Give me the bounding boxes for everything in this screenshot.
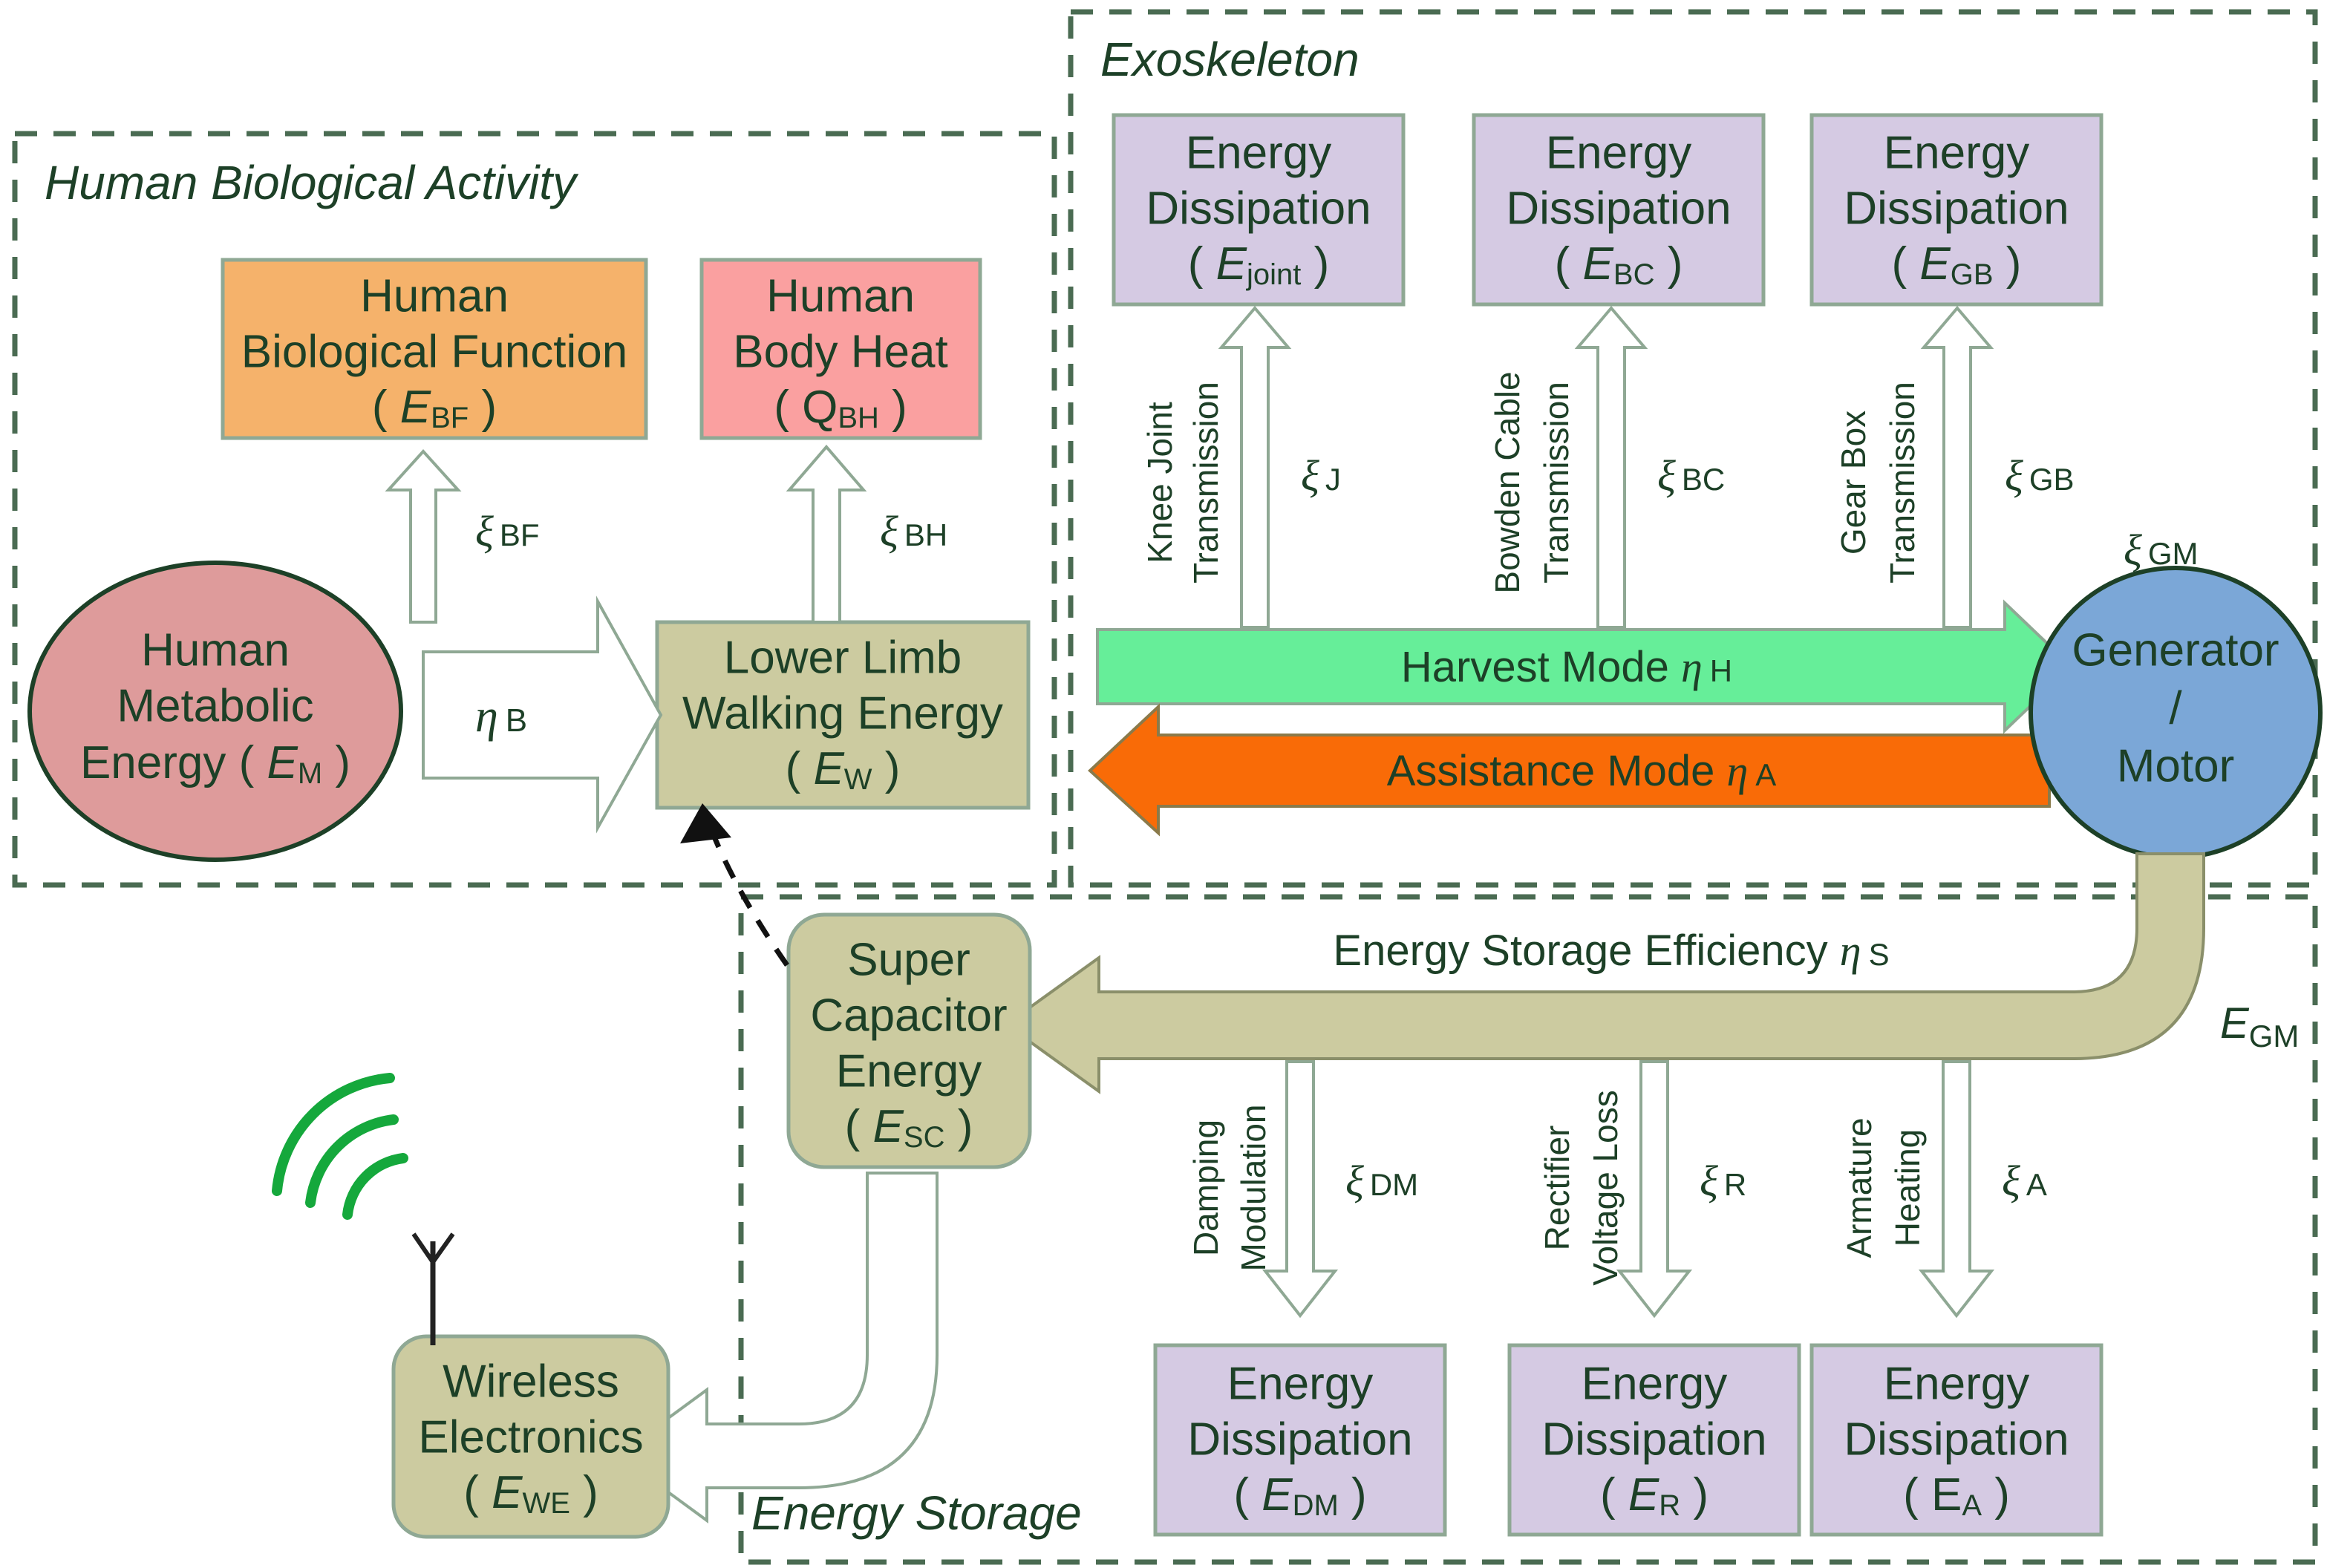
diss-top-1-line2: Dissipation [1506, 183, 1731, 234]
label-xi-GB: ξGB [2005, 451, 2075, 500]
diss-top-0-line2: Dissipation [1146, 183, 1371, 234]
label-xi-BC: ξBC [1657, 451, 1725, 500]
svg-text:Voltage Loss: Voltage Loss [1586, 1090, 1625, 1285]
node-bh-line2: Body Heat [733, 326, 948, 377]
svg-text:Bowden Cable: Bowden Cable [1488, 371, 1527, 593]
node-we2-line2: Electronics [418, 1411, 643, 1463]
diss-top-2-line1: Energy [1884, 127, 2029, 178]
arrow-up-gear-box [1924, 308, 1991, 627]
arrow-metabolic-to-walking [423, 601, 661, 828]
svg-text:Knee Joint: Knee Joint [1140, 402, 1179, 563]
dissipation-box-gb: Energy Dissipation ( EGB ) [1812, 115, 2101, 304]
node-me-line2: Metabolic [117, 680, 313, 731]
node-gen-line2: / [2169, 682, 2182, 734]
label-xi-DM: ξDM [1345, 1157, 1418, 1205]
node-we-symbol: ( EW ) [786, 743, 901, 795]
arrow-up-knee-joint [1221, 308, 1288, 627]
diss-bot-2-symbol: ( EA ) [1903, 1469, 2010, 1521]
label-armature-heating: Armature Heating [1840, 1117, 1927, 1258]
label-xi-GM: ξGM [2124, 526, 2199, 574]
svg-text:Transmission: Transmission [1537, 382, 1576, 584]
dissipation-box-a: Energy Dissipation ( EA ) [1812, 1345, 2101, 1535]
diss-bot-1-symbol: ( ER ) [1600, 1469, 1708, 1521]
label-harvest-mode: Harvest Mode ηH [1401, 643, 1732, 691]
antenna-icon [414, 1234, 453, 1345]
label-damping-modulation: Damping Modulation [1187, 1104, 1273, 1271]
svg-text:Modulation: Modulation [1234, 1104, 1273, 1271]
group-title-human: Human Biological Activity [45, 156, 579, 209]
label-assistance-mode: Assistance Mode ηA [1387, 747, 1777, 795]
svg-text:Armature: Armature [1840, 1117, 1879, 1258]
label-knee-joint-transmission: Knee Joint Transmission [1140, 382, 1225, 584]
dissipation-box-r: Energy Dissipation ( ER ) [1510, 1345, 1799, 1535]
svg-text:Transmission: Transmission [1187, 382, 1225, 584]
diss-bot-1-line2: Dissipation [1541, 1414, 1766, 1465]
node-sc-line3: Energy [836, 1045, 982, 1097]
node-bf-line2: Biological Function [241, 326, 627, 377]
node-bh-line1: Human [766, 270, 915, 321]
svg-text:Rectifier: Rectifier [1538, 1126, 1576, 1251]
svg-text:Heating: Heating [1888, 1129, 1927, 1247]
node-sc-line2: Capacitor [810, 990, 1007, 1041]
label-energy-storage-efficiency: Energy Storage Efficiency ηS [1333, 927, 1889, 975]
label-xi-BH: ξBH [880, 507, 947, 555]
node-we-line1: Lower Limb [724, 632, 962, 683]
arrow-up-bowden-cable [1578, 308, 1645, 627]
label-rectifier-voltage-loss: Rectifier Voltage Loss [1538, 1090, 1625, 1285]
svg-text:Damping: Damping [1187, 1120, 1225, 1256]
dissipation-box-bc: Energy Dissipation ( EBC ) [1474, 115, 1763, 304]
diss-bot-0-line2: Dissipation [1187, 1414, 1412, 1465]
arrow-up-bf [388, 451, 458, 622]
dissipation-box-joint: Energy Dissipation ( Ejoint ) [1114, 115, 1403, 304]
diss-bot-1-line1: Energy [1582, 1358, 1727, 1409]
arrow-down-damping-modulation [1265, 1062, 1335, 1316]
svg-text:Transmission: Transmission [1883, 382, 1922, 584]
node-sc-line1: Super [847, 934, 970, 985]
label-bowden-cable-transmission: Bowden Cable Transmission [1488, 371, 1576, 593]
dissipation-box-dm: Energy Dissipation ( EDM ) [1155, 1345, 1445, 1535]
label-xi-BF: ξBF [475, 507, 540, 555]
label-E-GM: EGM [2220, 999, 2299, 1053]
label-xi-R: ξR [1700, 1157, 1746, 1205]
node-gen-line1: Generator [2072, 624, 2279, 676]
diss-top-0-line1: Energy [1186, 127, 1331, 178]
wireless-signal-icon [277, 1078, 403, 1215]
label-gear-box-transmission: Gear Box Transmission [1834, 382, 1922, 584]
diss-bot-0-line1: Energy [1227, 1358, 1373, 1409]
node-we2-line1: Wireless [443, 1356, 619, 1407]
node-we-line2: Walking Energy [682, 687, 1003, 739]
arrow-down-rectifier-voltage-loss [1619, 1062, 1689, 1316]
diss-bot-2-line1: Energy [1884, 1358, 2029, 1409]
diss-bot-2-line2: Dissipation [1844, 1414, 2069, 1465]
arrow-up-bh [789, 447, 864, 622]
diagram-canvas: .dashgrp{fill:none;stroke:#4a6b52;stroke… [0, 0, 2327, 1568]
group-title-exoskeleton: Exoskeleton [1100, 33, 1360, 86]
label-xi-J: ξJ [1301, 451, 1341, 500]
arrow-down-armature-heating [1922, 1062, 1991, 1316]
node-gen-line3: Motor [2117, 740, 2234, 791]
node-me-line1: Human [141, 624, 290, 676]
diss-top-1-line1: Energy [1546, 127, 1691, 178]
diss-top-2-line2: Dissipation [1844, 183, 2069, 234]
label-xi-A: ξA [2002, 1157, 2047, 1205]
group-title-energy-storage: Energy Storage [751, 1486, 1082, 1540]
svg-text:Gear Box: Gear Box [1834, 411, 1873, 555]
node-bf-line1: Human [360, 270, 509, 321]
